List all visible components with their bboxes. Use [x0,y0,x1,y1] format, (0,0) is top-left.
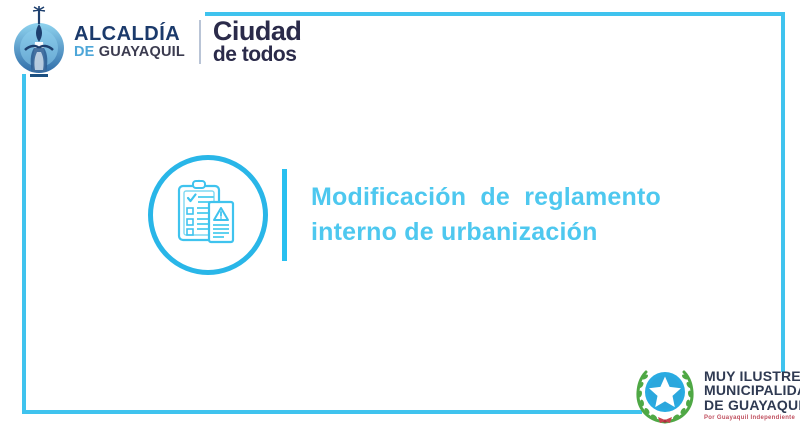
alcaldia-line1: ALCALDÍA [74,24,185,44]
frame-line-right-lower [781,86,785,372]
alcaldia-wordmark: ALCALDÍA DE GUAYAQUIL [74,24,185,60]
title-accent-bar [282,169,287,261]
page-title-line1: Modificación de reglamento [311,180,661,216]
alcaldia-line2: DE GUAYAQUIL [74,45,185,60]
page-title: Modificación de reglamento interno de ur… [311,180,661,251]
topic-icon-ring [148,155,268,275]
logo-divider [199,20,201,64]
muy-ilustre-municipalidad-star-wreath-emblem-icon [632,365,698,425]
municipality-wordmark: MUY ILUSTRE MUNICIPALIDAD DE GUAYAQUIL P… [704,369,800,422]
alcaldia-line2-prefix: DE [74,44,99,60]
frame-line-bottom [22,410,642,414]
page-title-word: reglamento [524,180,661,216]
municipality-line3: DE GUAYAQUIL [704,398,800,413]
main-content-block: Modificación de reglamento interno de ur… [148,155,661,275]
slide-canvas: ALCALDÍA DE GUAYAQUIL Ciudad de todos [0,0,800,427]
page-title-word: Modificación [311,180,466,216]
header-logo-lockup: ALCALDÍA DE GUAYAQUIL Ciudad de todos [8,6,301,78]
municipality-logo-lockup: MUY ILUSTRE MUNICIPALIDAD DE GUAYAQUIL P… [632,365,800,425]
municipality-line2: MUNICIPALIDAD [704,383,800,398]
frame-line-right-upper [781,12,785,86]
clipboard-checklist-warning-document-icon [169,174,247,257]
ciudad-de-todos-wordmark: Ciudad de todos [213,19,302,64]
municipality-line1: MUY ILUSTRE [704,369,800,384]
page-title-line2: interno de urbanización [311,215,661,251]
guayaquil-monument-emblem-icon [8,6,70,78]
page-title-word: de [480,180,510,216]
alcaldia-line2-main: GUAYAQUIL [99,44,185,60]
ciudad-line1: Ciudad [213,19,302,44]
frame-line-left [22,74,26,414]
municipality-tagline: Por Guayaquil Independiente [704,415,800,421]
ciudad-line2: de todos [213,45,302,64]
